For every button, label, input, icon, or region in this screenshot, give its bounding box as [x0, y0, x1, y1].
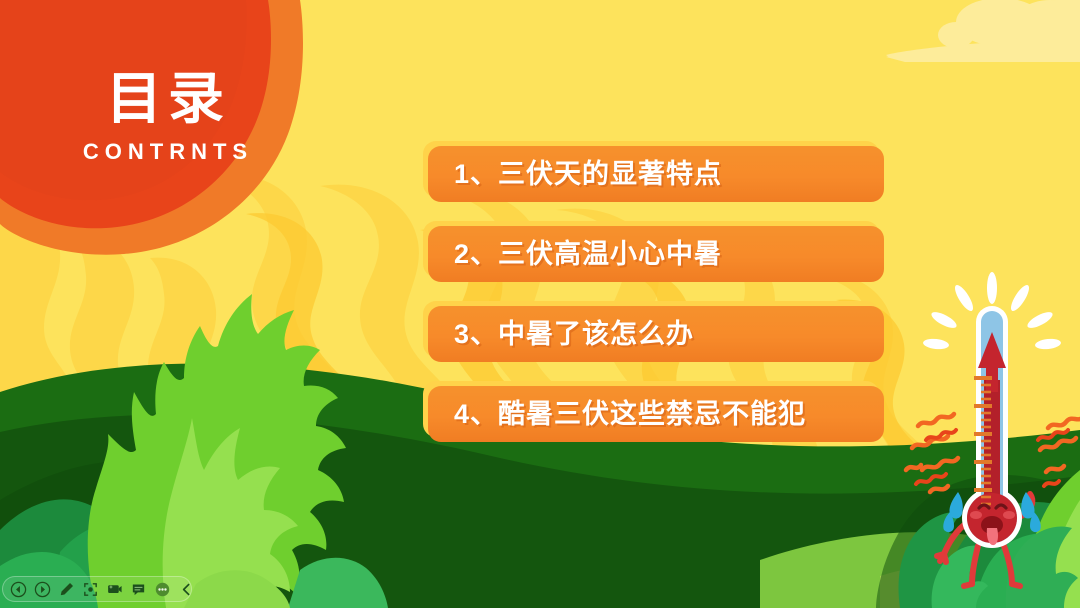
pen-icon [58, 581, 75, 598]
menu-item-face[interactable]: 1、三伏天的显著特点 [428, 146, 884, 202]
previous-icon [10, 581, 27, 598]
title-block: 目录 CONTRNTS [0, 0, 330, 250]
menu-item-label: 1、三伏天的显著特点 [454, 161, 722, 188]
more-options-button[interactable] [153, 580, 172, 599]
heat-squiggles-left-2 [916, 430, 956, 484]
next-icon [34, 581, 51, 598]
fullscreen-button[interactable] [81, 580, 100, 599]
heat-squiggles-right [1040, 416, 1080, 472]
comment-button[interactable] [129, 580, 148, 599]
collapse-toolbar-button[interactable] [177, 580, 196, 599]
chevron-left-icon [178, 581, 195, 598]
presentation-toolbar[interactable] [2, 576, 192, 602]
comment-icon [130, 581, 147, 598]
menu-item-label: 3、中暑了该怎么办 [454, 321, 694, 348]
pen-tool-button[interactable] [57, 580, 76, 599]
more-icon [154, 581, 171, 598]
menu-item-3[interactable]: 3、中暑了该怎么办 [428, 306, 884, 362]
menu-item-face[interactable]: 2、三伏高温小心中暑 [428, 226, 884, 282]
thermometer-body [962, 306, 1022, 548]
menu-item-face[interactable]: 3、中暑了该怎么办 [428, 306, 884, 362]
screen-icon [106, 581, 123, 598]
menu-item-face[interactable]: 4、酷暑三伏这些禁忌不能犯 [428, 386, 884, 442]
menu-item-label: 4、酷暑三伏这些禁忌不能犯 [454, 401, 806, 428]
presentation-slide: 目录 CONTRNTS 1、三伏天的显著特点 2、三伏高温小心中暑 3、中暑了该… [0, 0, 1080, 608]
menu-item-2[interactable]: 2、三伏高温小心中暑 [428, 226, 884, 282]
page-title: 目录 [100, 71, 230, 127]
presenter-view-button[interactable] [105, 580, 124, 599]
contents-menu-list: 1、三伏天的显著特点 2、三伏高温小心中暑 3、中暑了该怎么办 4、酷暑三伏这些… [428, 146, 884, 442]
fullscreen-icon [82, 581, 99, 598]
next-slide-button[interactable] [33, 580, 52, 599]
previous-slide-button[interactable] [9, 580, 28, 599]
heat-squiggles-right-2 [1038, 430, 1068, 486]
page-subtitle: CONTRNTS [77, 141, 253, 163]
menu-item-1[interactable]: 1、三伏天的显著特点 [428, 146, 884, 202]
menu-item-label: 2、三伏高温小心中暑 [454, 241, 722, 268]
menu-item-4[interactable]: 4、酷暑三伏这些禁忌不能犯 [428, 386, 884, 442]
